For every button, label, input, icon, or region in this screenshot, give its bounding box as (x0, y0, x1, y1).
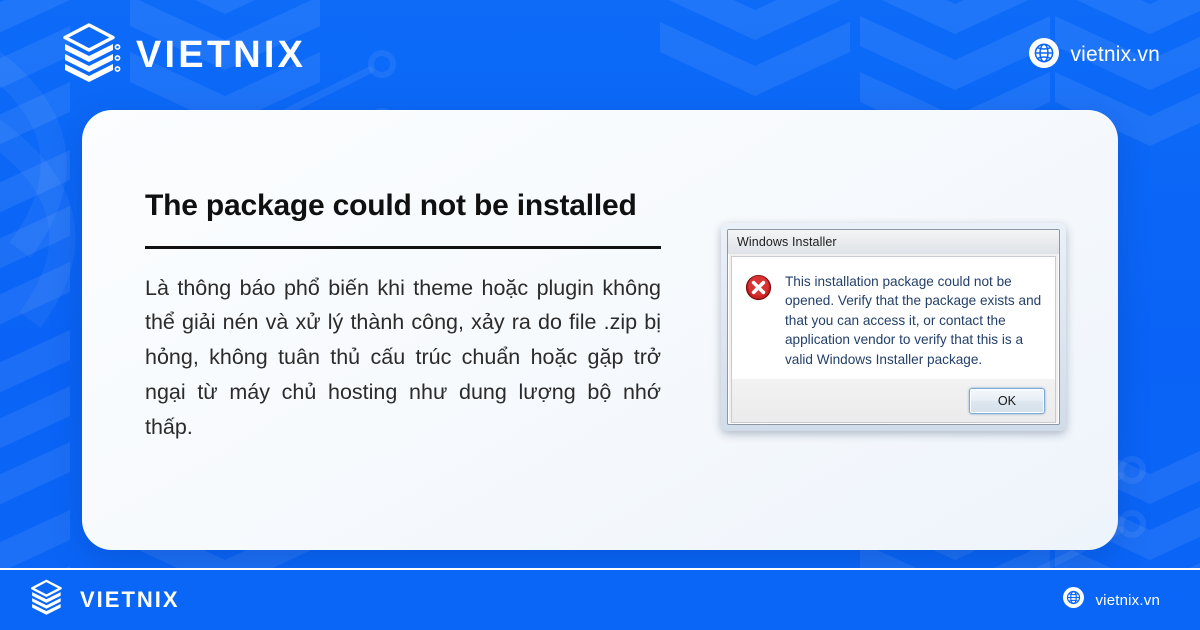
dialog-body: This installation package could not be o… (731, 256, 1056, 379)
dialog-titlebar[interactable]: Windows Installer (728, 230, 1059, 254)
dialog-title: Windows Installer (737, 235, 837, 249)
ok-button[interactable]: OK (969, 388, 1045, 414)
domain-label: vietnix.vn (1070, 43, 1160, 67)
brand-name: VIETNIX (136, 36, 306, 74)
error-x-circle-icon (745, 272, 773, 369)
dialog-aero-frame: Windows Installer (721, 223, 1066, 431)
footer-domain-label: vietnix.vn (1095, 592, 1160, 609)
domain-badge[interactable]: vietnix.vn (1029, 38, 1160, 73)
windows-installer-dialog-screenshot: Windows Installer (721, 223, 1066, 431)
globe-icon (1029, 38, 1059, 73)
footer-brand-name: VIETNIX (80, 589, 180, 611)
globe-icon (1063, 587, 1084, 613)
body-paragraph: Là thông báo phổ biến khi theme hoặc plu… (145, 271, 661, 445)
stacked-layers-logo-icon (28, 579, 66, 621)
page-footer: VIETNIX vietnix.vn (0, 570, 1200, 630)
dialog-button-bar: OK (731, 379, 1056, 423)
stacked-layers-logo-icon (58, 22, 122, 89)
content-card: The package could not be installed Là th… (82, 110, 1118, 550)
page-header: VIETNIX vietnix.vn (0, 0, 1200, 110)
dialog-message: This installation package could not be o… (785, 272, 1043, 369)
text-column: The package could not be installed Là th… (145, 188, 673, 445)
page-title: The package could not be installed (145, 188, 673, 224)
dialog-window: Windows Installer (727, 229, 1060, 425)
brand-logo[interactable]: VIETNIX (58, 22, 306, 89)
footer-brand-logo[interactable]: VIETNIX (28, 579, 180, 621)
footer-domain-badge[interactable]: vietnix.vn (1063, 587, 1160, 613)
title-divider (145, 246, 661, 249)
